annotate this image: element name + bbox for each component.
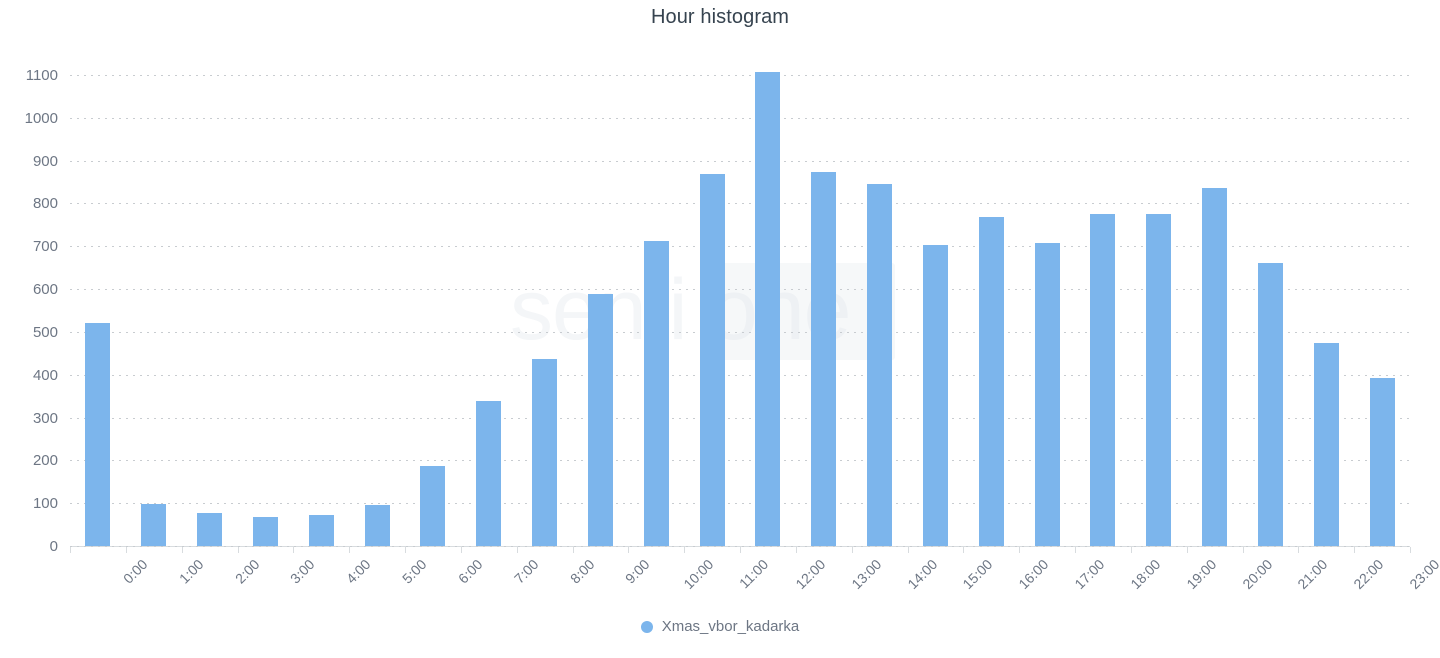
bar-13-00[interactable]	[811, 172, 836, 546]
bar-5-00[interactable]	[365, 505, 390, 546]
x-axis-tick-mark	[1131, 547, 1132, 553]
y-axis-tick-label: 500	[0, 325, 58, 340]
bar-2-00[interactable]	[197, 513, 222, 546]
bar-16-00[interactable]	[979, 217, 1004, 546]
x-axis-tick-mark	[293, 547, 294, 553]
x-axis-tick-label: 2:00	[232, 556, 263, 587]
y-axis-tick-label: 600	[0, 282, 58, 297]
x-axis-tick-mark	[1187, 547, 1188, 553]
x-axis-tick-mark	[126, 547, 127, 553]
x-axis-tick-label: 9:00	[622, 556, 653, 587]
x-axis-tick-mark	[684, 547, 685, 553]
bar-7-00[interactable]	[476, 401, 501, 546]
bar-23-00[interactable]	[1370, 378, 1395, 546]
y-axis-tick-label: 0	[0, 539, 58, 554]
x-axis-tick-label: 1:00	[176, 556, 207, 587]
x-axis-tick-label: 6:00	[455, 556, 486, 587]
x-axis-tick-label: 10:00	[681, 556, 717, 592]
x-axis-tick-mark	[349, 547, 350, 553]
legend-circle-icon	[641, 621, 653, 633]
plot-area	[70, 75, 1410, 546]
page-title: Hour histogram	[0, 6, 1440, 29]
x-axis-tick-mark	[1410, 547, 1411, 553]
x-axis-tick-label: 19:00	[1183, 556, 1219, 592]
x-axis-tick-mark	[573, 547, 574, 553]
bar-8-00[interactable]	[532, 359, 557, 546]
bar-14-00[interactable]	[867, 184, 892, 546]
bar-6-00[interactable]	[420, 466, 445, 546]
x-axis-tick-label: 22:00	[1351, 556, 1387, 592]
bars-layer	[70, 75, 1410, 546]
bar-12-00[interactable]	[755, 72, 780, 546]
x-axis-tick-mark	[628, 547, 629, 553]
x-axis-tick-mark	[1298, 547, 1299, 553]
x-axis-tick-label: 8:00	[567, 556, 598, 587]
x-axis-tick-mark	[1019, 547, 1020, 553]
x-axis-tick-label: 5:00	[399, 556, 430, 587]
bar-0-00[interactable]	[85, 323, 110, 546]
x-axis-tick-mark	[852, 547, 853, 553]
y-axis-tick-label: 400	[0, 368, 58, 383]
bar-3-00[interactable]	[253, 517, 278, 546]
bar-20-00[interactable]	[1202, 188, 1227, 546]
y-axis-tick-label: 700	[0, 239, 58, 254]
x-axis-tick-mark	[182, 547, 183, 553]
legend-item-series-0[interactable]: Xmas_vbor_kadarka	[641, 618, 800, 635]
bar-9-00[interactable]	[588, 294, 613, 546]
bar-10-00[interactable]	[644, 241, 669, 546]
legend-item-label: Xmas_vbor_kadarka	[662, 618, 800, 635]
bar-17-00[interactable]	[1035, 243, 1060, 546]
hour-histogram-chart: Hour histogram senti one 110010009008007…	[0, 0, 1440, 658]
x-axis-tick-label: 21:00	[1295, 556, 1331, 592]
y-axis-tick-label: 200	[0, 453, 58, 468]
x-axis-tick-mark	[1075, 547, 1076, 553]
chart-legend: Xmas_vbor_kadarka	[0, 618, 1440, 635]
y-axis-tick-label: 1000	[0, 111, 58, 126]
x-axis-tick-mark	[70, 547, 71, 553]
bar-18-00[interactable]	[1090, 214, 1115, 546]
x-axis-tick-label: 20:00	[1239, 556, 1275, 592]
bar-11-00[interactable]	[700, 174, 725, 546]
y-axis-tick-label: 100	[0, 496, 58, 511]
bar-4-00[interactable]	[309, 515, 334, 546]
x-axis-tick-mark	[796, 547, 797, 553]
bar-19-00[interactable]	[1146, 214, 1171, 546]
x-axis-tick-label: 11:00	[736, 556, 771, 591]
x-axis-tick-label: 17:00	[1071, 556, 1107, 592]
x-axis-tick-label: 12:00	[792, 556, 828, 592]
y-axis-tick-label: 800	[0, 196, 58, 211]
x-axis-tick-mark	[405, 547, 406, 553]
y-axis-tick-label: 1100	[0, 68, 58, 83]
x-axis-tick-label: 13:00	[848, 556, 884, 592]
x-axis-tick-mark	[517, 547, 518, 553]
bar-15-00[interactable]	[923, 245, 948, 546]
x-axis-tick-mark	[238, 547, 239, 553]
x-axis-tick-label: 3:00	[287, 556, 318, 587]
x-axis-tick-mark	[740, 547, 741, 553]
x-axis-tick-label: 4:00	[343, 556, 374, 587]
x-axis-tick-label: 7:00	[511, 556, 542, 587]
x-axis-tick-mark	[1243, 547, 1244, 553]
x-axis-tick-mark	[1354, 547, 1355, 553]
gridline-0	[70, 546, 1410, 547]
x-axis-tick-label: 15:00	[960, 556, 996, 592]
bar-21-00[interactable]	[1258, 263, 1283, 546]
bar-22-00[interactable]	[1314, 343, 1339, 546]
x-axis-tick-mark	[461, 547, 462, 553]
x-axis-tick-mark	[908, 547, 909, 553]
x-axis-tick-label: 16:00	[1016, 556, 1052, 592]
x-axis-tick-label: 0:00	[120, 556, 151, 587]
bar-1-00[interactable]	[141, 504, 166, 546]
x-axis-tick-label: 18:00	[1127, 556, 1163, 592]
x-axis-tick-mark	[963, 547, 964, 553]
y-axis-tick-label: 300	[0, 411, 58, 426]
x-axis-tick-label: 23:00	[1406, 556, 1440, 592]
x-axis-tick-label: 14:00	[904, 556, 940, 592]
y-axis-tick-label: 900	[0, 154, 58, 169]
